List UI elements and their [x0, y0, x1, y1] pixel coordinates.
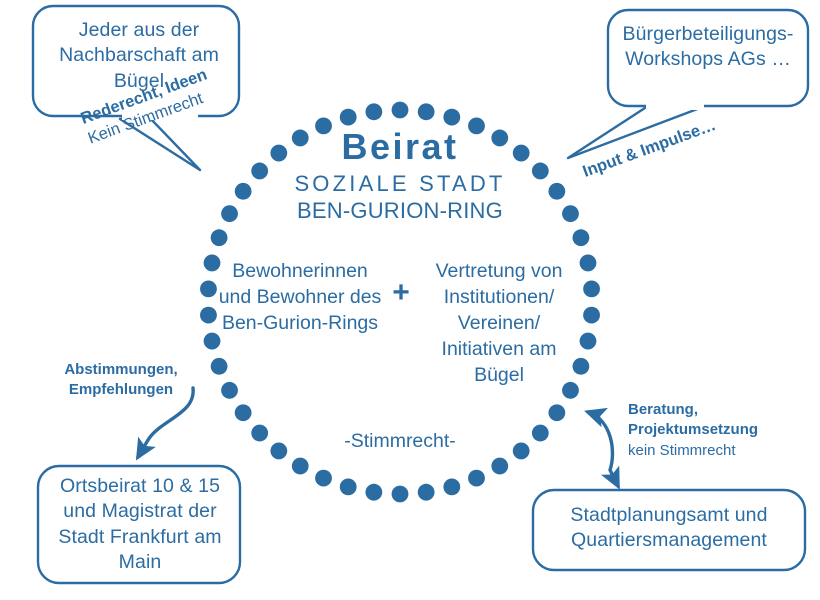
plus-sign: + [386, 278, 416, 308]
ring-dot [583, 281, 600, 298]
arrow-label-stadtplanungsamt-bold: Beratung, Projektumsetzung [628, 400, 793, 441]
ring-dot [491, 458, 508, 475]
ring-dot [340, 478, 357, 495]
ring-dot [235, 404, 252, 421]
ring-column-right: Vertretung von Institutionen/ Vereinen/ … [425, 259, 573, 389]
ring-dot [365, 484, 382, 501]
ring-dot [573, 229, 590, 246]
arrow-label-ortsbeirat: Abstimmungen, Empfehlungen [46, 360, 196, 401]
ring-dot [211, 229, 228, 246]
ring-dot [580, 255, 597, 272]
box-bottom-left-text: Ortsbeirat 10 & 15 und Magistrat der Sta… [42, 474, 238, 575]
ring-dot [315, 470, 332, 487]
ring-title-sub2: BEN-GURION-RING [250, 198, 550, 224]
ring-dot [573, 358, 590, 375]
ring-dot [270, 443, 287, 460]
arrow-label-stadtplanungsamt: Beratung, Projektumsetzung kein Stimmrec… [628, 400, 793, 461]
ring-dot [292, 458, 309, 475]
ring-column-left: Bewohnerinnen und Bewohner des Ben-Gurio… [215, 259, 385, 337]
ring-dot [340, 109, 357, 126]
ring-dot [548, 183, 565, 200]
ring-dot [580, 333, 597, 350]
box-bottom-right-text: Stadtplanungsamt und Quartiersmanagement [537, 503, 801, 554]
ring-dot [418, 103, 435, 120]
ring-dot [468, 470, 485, 487]
arrow-ring-stadtplanungsamt [588, 412, 618, 486]
ring-dot [443, 109, 460, 126]
ring-dot [418, 484, 435, 501]
ring-dot [211, 358, 228, 375]
ring-dot [443, 478, 460, 495]
ring-dot [532, 425, 549, 442]
ring-dot [583, 307, 600, 324]
ring-footer-stimmrecht: -Stimmrecht- [320, 430, 480, 453]
ring-dot [513, 443, 530, 460]
ring-dot [392, 486, 409, 503]
arrow-label-stadtplanungsamt-regular: kein Stimmrecht [628, 441, 793, 461]
ring-title-main: Beirat [250, 128, 550, 166]
ring-dot [365, 103, 382, 120]
ring-title-block: Beirat SOZIALE STADT BEN-GURION-RING [250, 128, 550, 224]
ring-title-sub1: SOZIALE STADT [250, 169, 550, 198]
ring-dot [221, 205, 238, 222]
ring-dot [548, 404, 565, 421]
ring-dot [251, 425, 268, 442]
ring-dot [221, 382, 238, 399]
ring-dot [392, 102, 409, 119]
diagram-canvas: Jeder aus der Nachbarschaft am Bügel Bür… [0, 0, 820, 600]
ring-dot [562, 205, 579, 222]
bubble-top-right-text: Bürgerbeteiligungs- Workshops AGs … [612, 22, 804, 73]
